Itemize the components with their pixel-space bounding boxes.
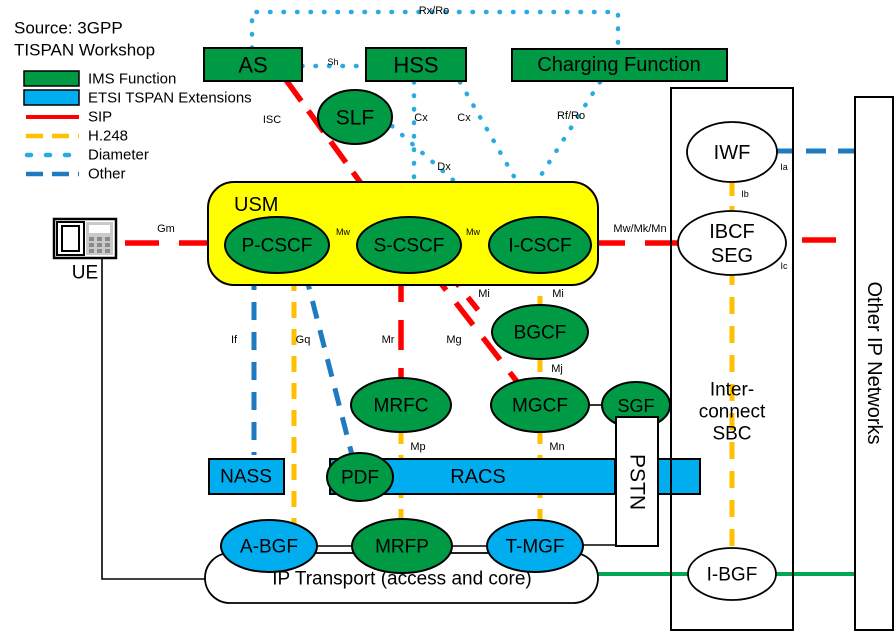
node-other-ip-networks[interactable]: Other IP Networks <box>855 97 893 630</box>
label-gq: Gq <box>296 334 311 346</box>
node-iwf-label: IWF <box>714 142 751 164</box>
label-mi-1: Mi <box>478 288 490 300</box>
label-mn: Mn <box>549 441 564 453</box>
node-i-bgf[interactable]: I-BGF <box>688 548 776 600</box>
label-mg: Mg <box>446 334 461 346</box>
legend-label-diameter: Diameter <box>88 147 149 164</box>
node-slf[interactable]: SLF <box>318 90 392 144</box>
node-iwf[interactable]: IWF <box>687 122 777 182</box>
source-line-1: Source: 3GPP <box>14 19 123 38</box>
node-racs-label: RACS <box>450 466 506 488</box>
label-mj: Mj <box>551 363 563 375</box>
legend-label-ims-function: IMS Function <box>88 71 176 88</box>
node-t-mgf-label: T-MGF <box>505 537 564 558</box>
node-mrfc[interactable]: MRFC <box>351 378 451 432</box>
node-ue-label: UE <box>72 263 98 284</box>
legend-label-h248: H.248 <box>88 128 128 145</box>
legend-swatch-ims-function <box>24 71 79 86</box>
label-mw-mk-mn: Mw/Mk/Mn <box>613 223 666 235</box>
link-gq <box>305 272 352 455</box>
node-sgf-label: SGF <box>617 396 654 416</box>
label-ib: Ib <box>741 189 749 199</box>
node-nass[interactable]: NASS <box>209 459 284 494</box>
node-usm-label: USM <box>234 194 278 216</box>
node-pstn-label: PSTN <box>626 454 649 510</box>
node-p-cscf-label: P-CSCF <box>242 236 313 257</box>
source-line-2: TISPAN Workshop <box>14 41 155 60</box>
node-charging-function-label: Charging Function <box>537 54 700 76</box>
node-mrfc-label: MRFC <box>374 396 429 417</box>
label-isc: ISC <box>263 114 281 126</box>
node-pdf-label: PDF <box>341 468 379 489</box>
node-a-bgf[interactable]: A-BGF <box>221 520 317 572</box>
node-i-cscf-label: I-CSCF <box>508 236 571 257</box>
node-other-ip-networks-label: Other IP Networks <box>863 281 885 444</box>
node-interconnect-sbc-label-line1: Inter- <box>710 380 754 401</box>
node-hss[interactable]: HSS <box>366 48 466 81</box>
node-as[interactable]: AS <box>204 48 302 81</box>
label-rx-ro: Rx/Ro <box>419 5 450 17</box>
diagram-canvas: Source: 3GPP TISPAN Workshop IMS Functio… <box>0 0 896 634</box>
label-rf-ro: Rf/Ro <box>557 110 585 122</box>
node-p-cscf[interactable]: P-CSCF <box>225 217 329 273</box>
label-ia: Ia <box>780 162 788 172</box>
label-mi-2: Mi <box>552 288 564 300</box>
node-bgcf-label: BGCF <box>514 323 567 344</box>
node-mgcf[interactable]: MGCF <box>491 378 589 432</box>
node-pdf[interactable]: PDF <box>327 453 393 501</box>
label-mw-1: Mw <box>336 227 350 237</box>
label-cx-1: Cx <box>414 112 428 124</box>
legend-label-etsi-tspan-extensions: ETSI TSPAN Extensions <box>88 90 252 107</box>
node-slf-label: SLF <box>336 107 375 130</box>
node-racs-right-segment[interactable] <box>658 459 700 494</box>
node-hss-label: HSS <box>393 53 438 78</box>
node-interconnect-sbc-label-line2: connect <box>699 402 766 423</box>
node-charging-function[interactable]: Charging Function <box>512 49 727 81</box>
link-rx-ro <box>252 12 618 48</box>
node-mrfp[interactable]: MRFP <box>352 519 452 573</box>
label-sh: Sh <box>327 57 338 67</box>
label-cx-2: Cx <box>457 112 471 124</box>
node-ue[interactable]: UE <box>54 219 116 284</box>
label-gm: Gm <box>157 223 175 235</box>
ims-tispan-architecture-diagram: Source: 3GPP TISPAN Workshop IMS Functio… <box>0 0 896 634</box>
node-i-cscf[interactable]: I-CSCF <box>489 217 591 273</box>
legend: IMS Function ETSI TSPAN Extensions SIP H… <box>24 71 252 183</box>
label-mw-2: Mw <box>466 227 480 237</box>
node-ibcf-seg-label-line1: IBCF <box>709 221 755 243</box>
label-mr: Mr <box>382 334 395 346</box>
node-as-label: AS <box>238 53 267 78</box>
node-ibcf-seg-label-line2: SEG <box>711 245 753 267</box>
node-i-bgf-label: I-BGF <box>707 565 758 586</box>
legend-label-other: Other <box>88 166 126 183</box>
node-s-cscf-label: S-CSCF <box>374 236 445 257</box>
node-ibcf-seg[interactable]: IBCF SEG <box>678 211 786 275</box>
label-dx: Dx <box>437 161 451 173</box>
node-a-bgf-label: A-BGF <box>240 537 298 558</box>
label-mp: Mp <box>410 441 425 453</box>
node-bgcf[interactable]: BGCF <box>492 305 588 359</box>
link-ue-iptransport <box>102 258 205 579</box>
node-mrfp-label: MRFP <box>375 537 429 558</box>
node-pstn[interactable]: PSTN <box>616 417 658 546</box>
node-mgcf-label: MGCF <box>512 396 568 417</box>
node-nass-label: NASS <box>220 467 272 488</box>
node-interconnect-sbc-label-line3: SBC <box>712 424 751 445</box>
label-ic: Ic <box>780 261 788 271</box>
node-t-mgf[interactable]: T-MGF <box>487 520 583 572</box>
label-if: If <box>231 334 238 346</box>
legend-label-sip: SIP <box>88 109 112 126</box>
legend-swatch-etsi-tspan-extensions <box>24 90 79 105</box>
node-s-cscf[interactable]: S-CSCF <box>357 217 461 273</box>
